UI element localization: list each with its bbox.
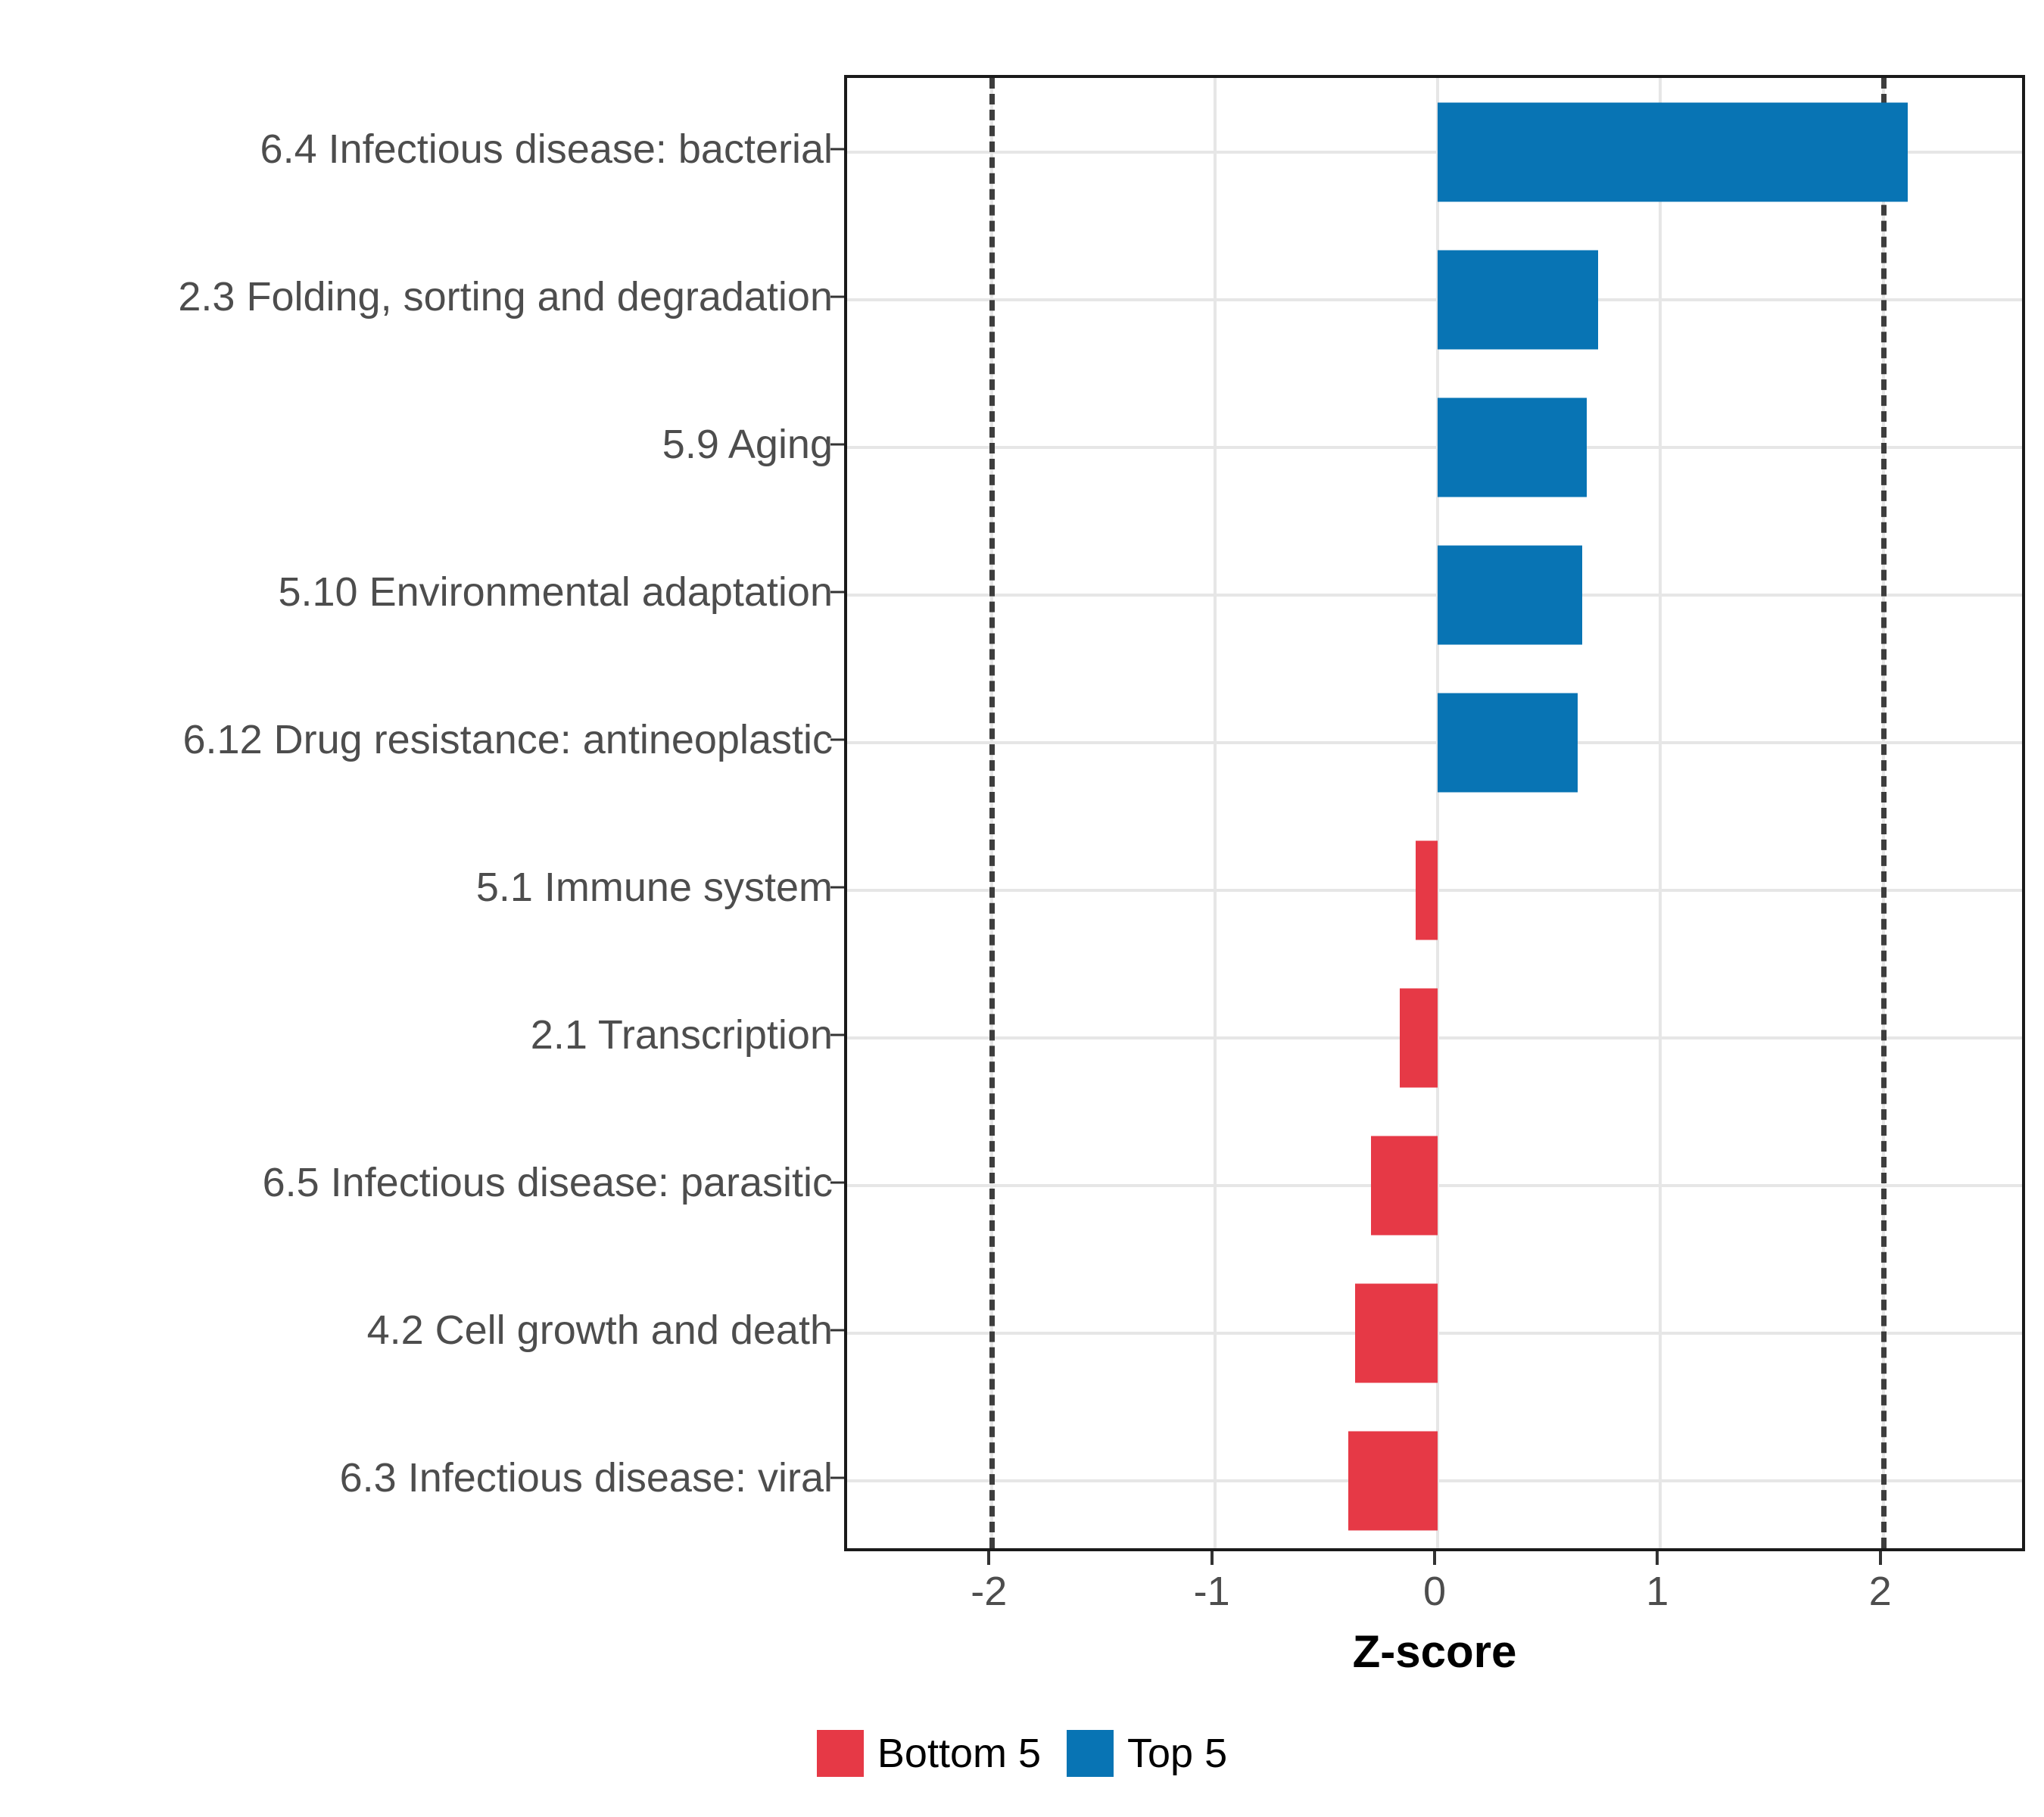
y-axis-tick-mark xyxy=(830,443,844,445)
bar xyxy=(1438,397,1587,497)
y-axis-tick-label: 6.3 Infectious disease: viral xyxy=(0,1457,833,1498)
gridline-horizontal xyxy=(847,298,2022,301)
y-axis-tick-mark xyxy=(830,148,844,150)
y-axis-tick-label: 5.10 Environmental adaptation xyxy=(0,572,833,612)
zscore-bar-chart: 6.4 Infectious disease: bacterial2.3 Fol… xyxy=(0,0,2044,1817)
y-axis-tick-mark xyxy=(830,295,844,298)
y-axis-tick-label: 5.9 Aging xyxy=(0,424,833,465)
chart-legend: Bottom 5Top 5 xyxy=(0,1730,2044,1777)
y-axis-tick-mark xyxy=(830,1476,844,1479)
x-axis-tick-mark xyxy=(1879,1551,1882,1565)
y-axis-tick-mark xyxy=(830,886,844,888)
bar xyxy=(1438,102,1908,201)
bar xyxy=(1371,1136,1438,1235)
legend-swatch-icon xyxy=(817,1730,864,1777)
bar xyxy=(1348,1431,1438,1530)
y-axis-tick-mark xyxy=(830,1033,844,1036)
y-axis-tick-mark xyxy=(830,591,844,593)
bar xyxy=(1438,693,1578,792)
bar xyxy=(1400,988,1438,1087)
reference-line xyxy=(1881,78,1887,1548)
bar xyxy=(1355,1283,1438,1382)
x-axis-tick-mark xyxy=(987,1551,990,1565)
y-axis-tick-label: 2.3 Folding, sorting and degradation xyxy=(0,276,833,317)
y-axis-tick-mark xyxy=(830,1181,844,1183)
legend-label: Top 5 xyxy=(1127,1733,1227,1774)
x-axis-tick-mark xyxy=(1656,1551,1659,1565)
legend-item[interactable]: Top 5 xyxy=(1067,1730,1227,1777)
y-axis-tick-label: 6.5 Infectious disease: parasitic xyxy=(0,1162,833,1203)
x-axis-tick-label: 1 xyxy=(1646,1571,1669,1612)
y-axis-tick-mark xyxy=(830,1329,844,1331)
y-axis-tick-mark xyxy=(830,738,844,740)
legend-label: Bottom 5 xyxy=(877,1733,1041,1774)
x-axis-tick-mark xyxy=(1433,1551,1436,1565)
x-axis-title: Z-score xyxy=(844,1629,2025,1675)
y-axis-tick-label: 6.12 Drug resistance: antineoplastic xyxy=(0,719,833,760)
gridline-vertical xyxy=(1659,78,1662,1548)
x-axis-tick-label: 0 xyxy=(1423,1571,1446,1612)
gridline-horizontal xyxy=(847,446,2022,449)
y-axis-tick-label: 5.1 Immune system xyxy=(0,867,833,908)
legend-item[interactable]: Bottom 5 xyxy=(817,1730,1041,1777)
gridline-vertical xyxy=(1214,78,1217,1548)
y-axis-tick-label: 6.4 Infectious disease: bacterial xyxy=(0,129,833,170)
y-axis-tick-label: 2.1 Transcription xyxy=(0,1014,833,1055)
gridline-horizontal xyxy=(847,594,2022,597)
y-axis-labels: 6.4 Infectious disease: bacterial2.3 Fol… xyxy=(0,75,844,1551)
x-axis-tick-mark xyxy=(1211,1551,1214,1565)
x-axis-tick-label: 2 xyxy=(1869,1571,1892,1612)
x-axis-tick-label: -1 xyxy=(1194,1571,1230,1612)
legend-swatch-icon xyxy=(1067,1730,1114,1777)
bar xyxy=(1438,250,1598,349)
plot-panel xyxy=(844,75,2025,1551)
bar xyxy=(1416,840,1438,940)
y-axis-tick-label: 4.2 Cell growth and death xyxy=(0,1310,833,1351)
x-axis-tick-label: -2 xyxy=(971,1571,1007,1612)
bar xyxy=(1438,545,1582,644)
reference-line xyxy=(989,78,995,1548)
gridline-horizontal xyxy=(847,741,2022,744)
